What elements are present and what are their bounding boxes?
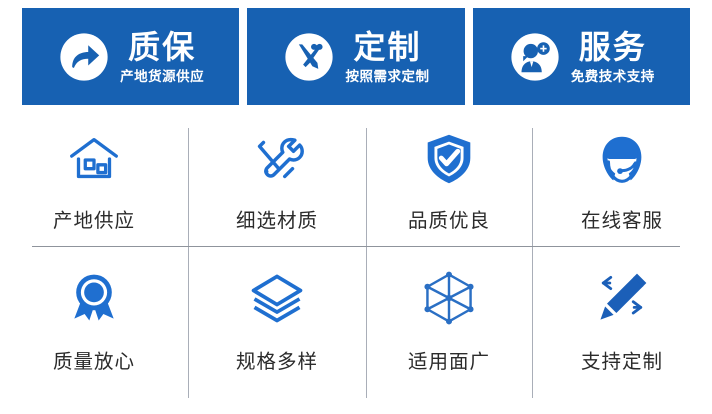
share-arrow-circle-icon	[57, 30, 111, 84]
banner-customization[interactable]: 定制 按照需求定制	[247, 8, 464, 105]
warehouse-house-icon	[63, 128, 125, 190]
banner-service[interactable]: 服务 免费技术支持	[473, 8, 690, 105]
banner-strip: 质保 产地货源供应 定制 按照需求定制	[22, 8, 690, 105]
feature-label: 品质优良	[408, 204, 490, 233]
feature-cell-material-selection[interactable]: 细选材质	[188, 112, 366, 246]
banner-subtitle: 产地货源供应	[120, 70, 204, 84]
feature-cell-wide-application[interactable]: 适用面广	[366, 246, 532, 408]
feature-label: 支持定制	[581, 345, 663, 374]
crossed-tools-circle-icon	[282, 30, 336, 84]
vertical-divider-2	[366, 128, 367, 398]
headset-agent-icon	[591, 128, 653, 190]
feature-grid: 产地供应 细选材质 品质优良 在线	[0, 112, 712, 408]
feature-cell-origin-supply[interactable]: 产地供应	[0, 112, 188, 246]
banner-title: 定制	[353, 30, 421, 65]
banner-subtitle: 按照需求定制	[345, 70, 429, 84]
feature-cell-supports-customization[interactable]: 支持定制	[532, 246, 712, 408]
feature-cell-quality-assured[interactable]: 质量放心	[0, 246, 188, 408]
banner-text: 质保 产地货源供应	[120, 30, 204, 83]
feature-label: 产地供应	[53, 204, 135, 233]
banner-quality-guarantee[interactable]: 质保 产地货源供应	[22, 8, 239, 105]
banner-subtitle: 免费技术支持	[571, 70, 655, 84]
feature-cell-quality-excellent[interactable]: 品质优良	[366, 112, 532, 246]
hexagon-network-icon	[419, 268, 479, 328]
horizontal-divider	[32, 246, 680, 247]
vertical-divider-1	[188, 128, 189, 398]
shield-check-icon	[418, 128, 480, 190]
feature-label: 规格多样	[236, 345, 318, 374]
banner-text: 服务 免费技术支持	[571, 30, 655, 83]
banner-title: 质保	[128, 30, 196, 65]
feature-label: 质量放心	[53, 345, 135, 374]
award-rosette-icon	[64, 268, 124, 328]
layers-stack-icon	[247, 268, 307, 328]
feature-label: 细选材质	[236, 204, 318, 233]
feature-cell-online-service[interactable]: 在线客服	[532, 112, 712, 246]
pencil-design-icon	[592, 268, 652, 328]
feature-label: 在线客服	[581, 204, 663, 233]
banner-title: 服务	[579, 30, 647, 65]
wrench-screwdriver-icon	[246, 128, 308, 190]
user-plus-circle-icon	[508, 30, 562, 84]
feature-cell-many-specs[interactable]: 规格多样	[188, 246, 366, 408]
feature-label: 适用面广	[408, 345, 490, 374]
vertical-divider-3	[532, 128, 533, 398]
banner-text: 定制 按照需求定制	[345, 30, 429, 83]
